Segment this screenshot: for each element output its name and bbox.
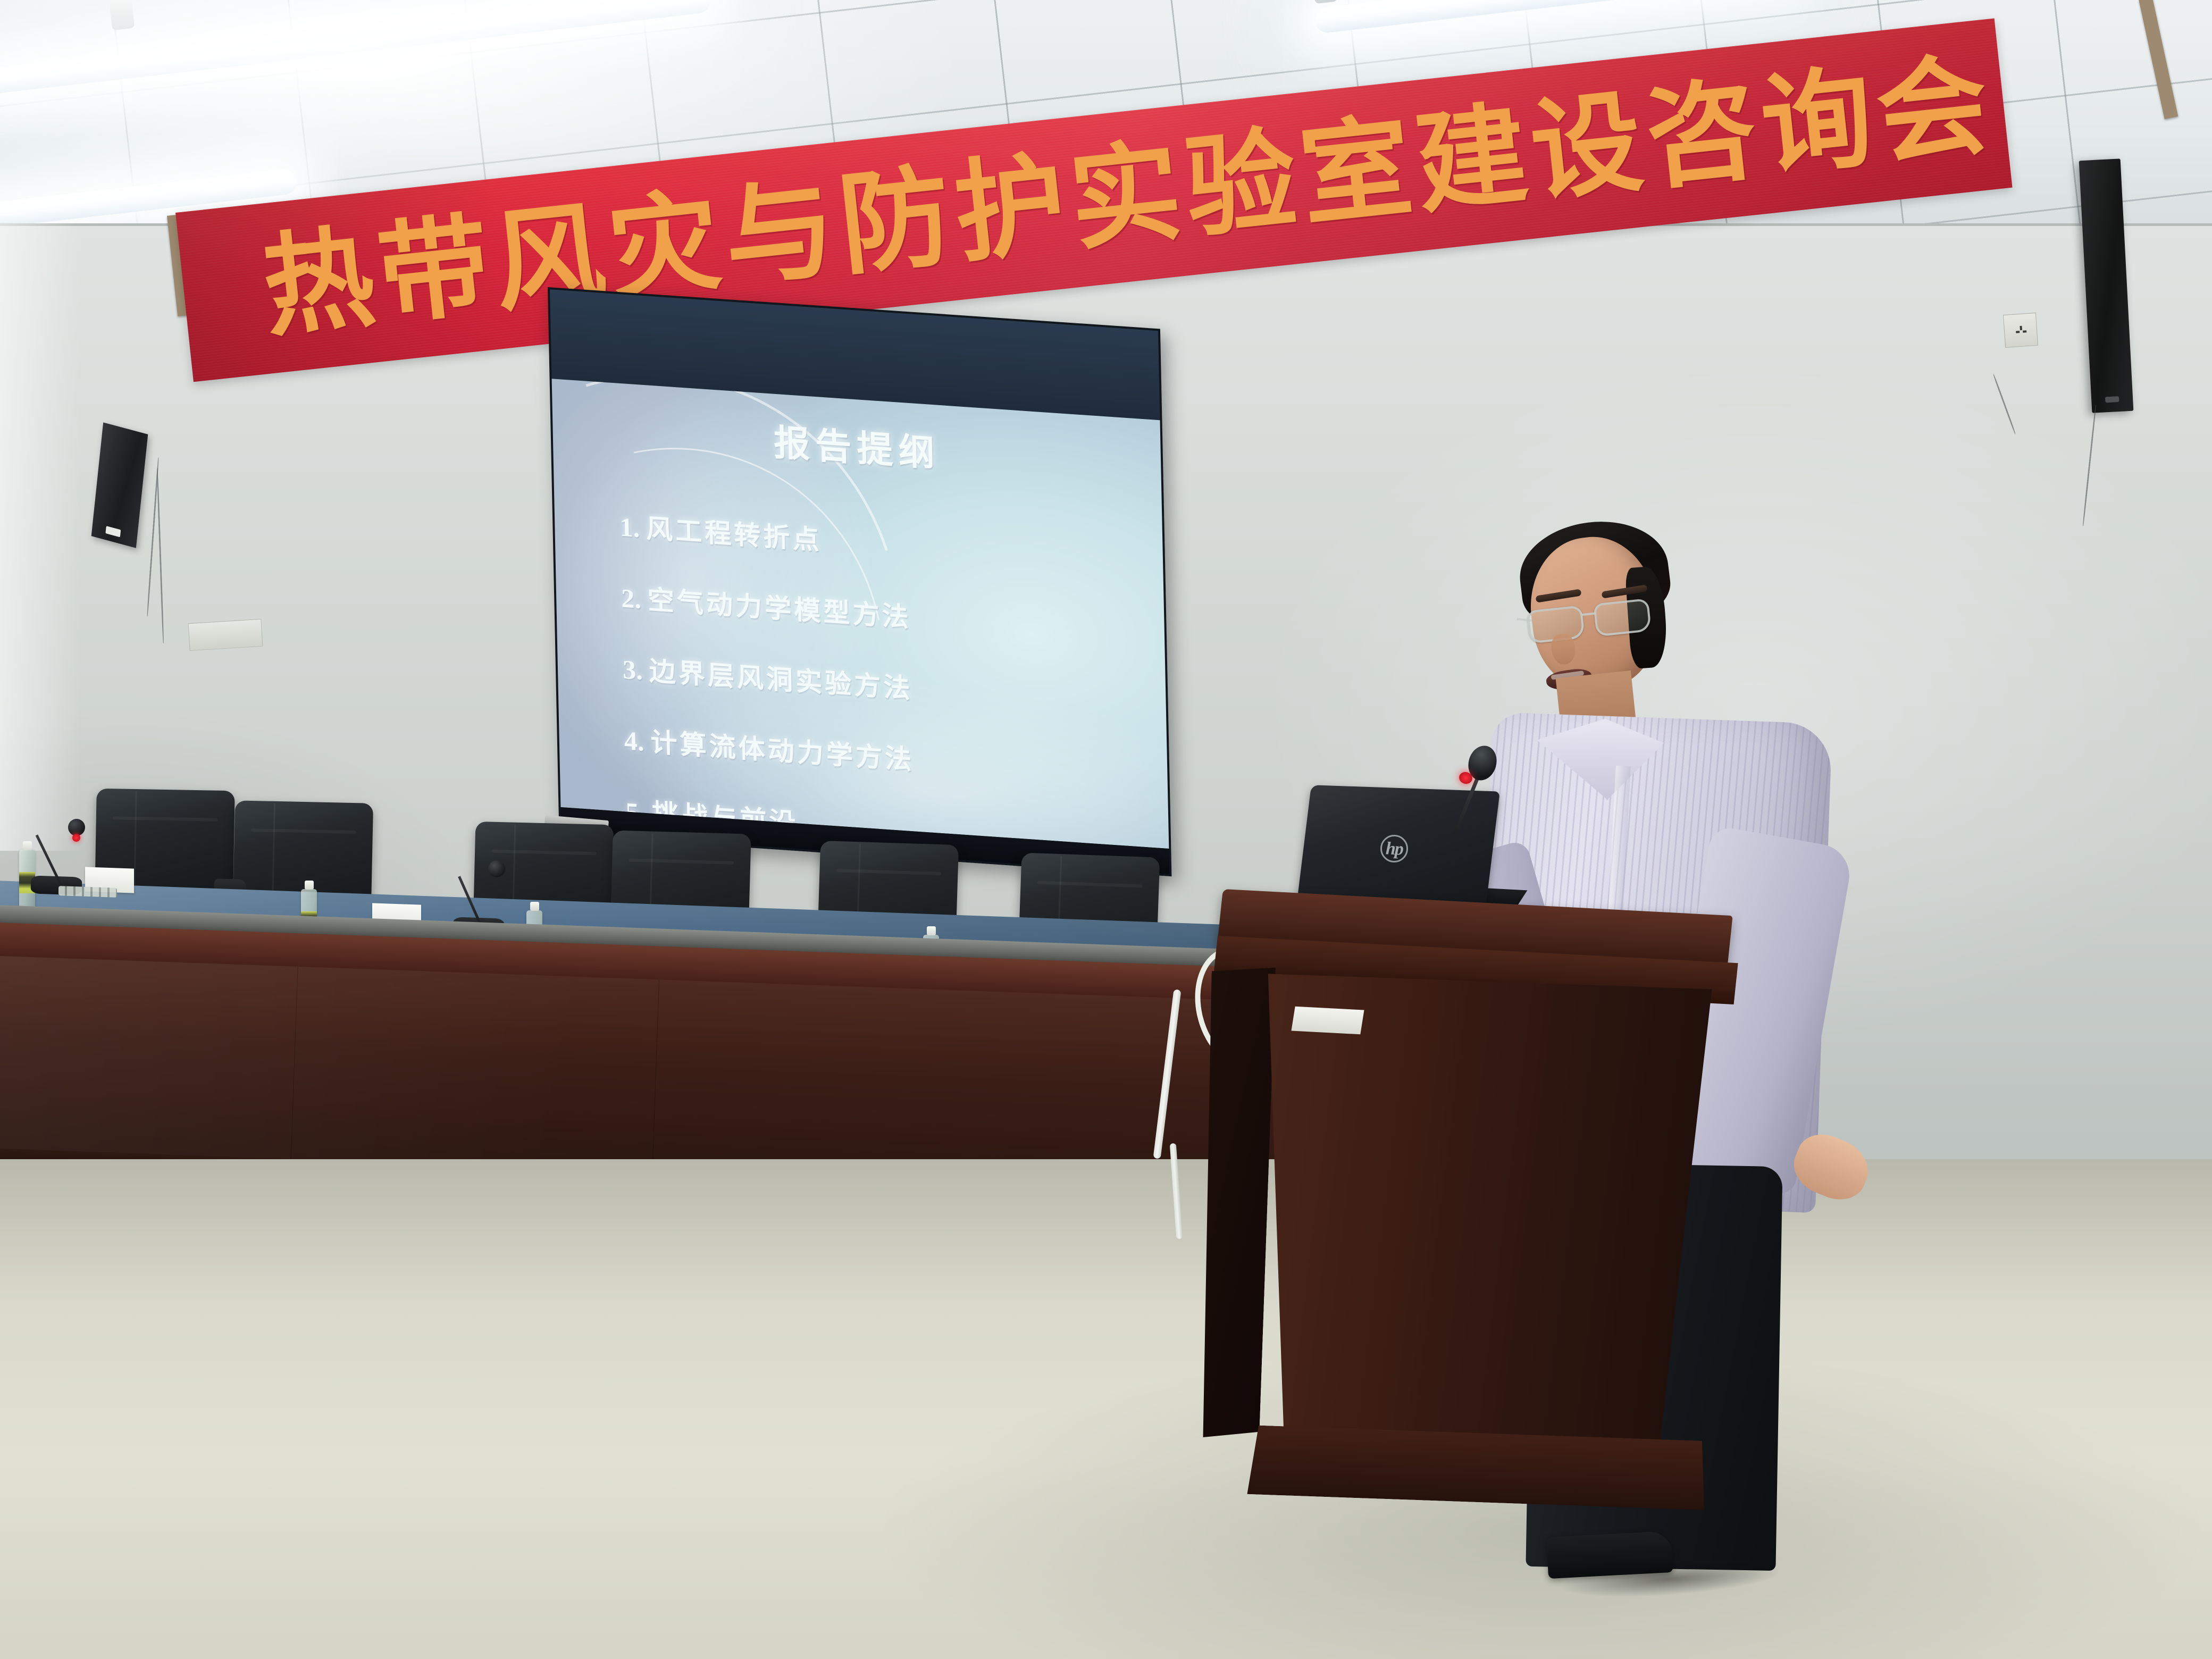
desk-microphone-head-2 <box>488 860 505 877</box>
podium-asset-label <box>1291 1007 1364 1034</box>
slide-item-number: 4. <box>624 725 644 757</box>
slide-item-number: 1. <box>619 512 640 544</box>
desk-microphone-buttons-1[interactable] <box>58 886 117 898</box>
bottle-cap <box>927 926 936 935</box>
slide-list-item: 4. 计算流体动力学方法 <box>624 719 1146 793</box>
slide-outline-list: 1. 风工程转折点 2. 空气动力学模型方法 3. 边界层风洞实验方法 4. 计… <box>619 506 1149 849</box>
projection-screen: 报告提纲 1. 风工程转折点 2. 空气动力学模型方法 3. 边界层风洞实验方法… <box>548 287 1171 876</box>
wall-corner-highlight <box>0 223 80 851</box>
slide-item-text: 空气动力学模型方法 <box>647 579 911 635</box>
wall-panel-plate <box>188 619 263 651</box>
bottle-cap <box>23 841 32 850</box>
slide-item-number: 2. <box>621 582 642 615</box>
slide-item-text: 计算流体动力学方法 <box>650 721 915 777</box>
presenter-shoe <box>1546 1531 1673 1579</box>
power-outlet-icon[interactable] <box>2003 313 2038 348</box>
slide-item-number: 3. <box>622 653 643 686</box>
podium-body <box>1233 973 1712 1457</box>
bottle-cap <box>305 881 314 890</box>
desk-microphone-indicator-1 <box>72 834 80 842</box>
slide-list-item: 2. 空气动力学模型方法 <box>621 576 1143 650</box>
presentation-slide: 报告提纲 1. 风工程转折点 2. 空气动力学模型方法 3. 边界层风洞实验方法… <box>552 379 1169 849</box>
slide-item-text: 边界层风洞实验方法 <box>649 650 913 706</box>
glasses-lens-right <box>1593 598 1652 637</box>
conference-room-photo: 热带风灾与防护实验室建设咨询会 报告提纲 1. 风工程转折点 2. <box>0 0 2212 1659</box>
bottle-cap <box>530 902 539 911</box>
slide-list-item: 3. 边界层风洞实验方法 <box>622 648 1145 722</box>
